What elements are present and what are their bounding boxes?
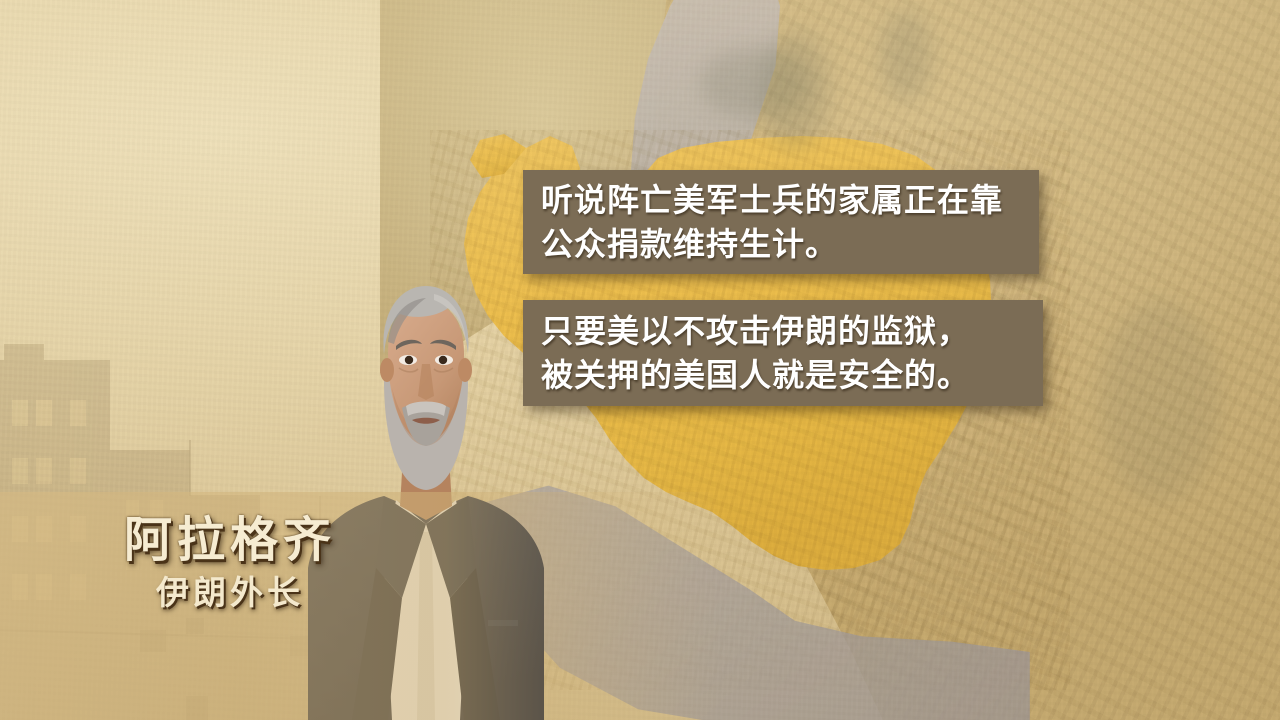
quote-2-line-2: 被关押的美国人就是安全的。 xyxy=(541,353,1043,397)
speaker-title: 伊朗外长 xyxy=(0,576,460,611)
speaker-name: 阿拉格齐 xyxy=(0,516,460,566)
quote-box-1: 听说阵亡美军士兵的家属正在靠 公众捐款维持生计。 xyxy=(523,170,1039,274)
news-graphic-stage: 阿拉格齐 伊朗外长 听说阵亡美军士兵的家属正在靠 公众捐款维持生计。 只要美以不… xyxy=(0,0,1280,720)
speaker-portrait xyxy=(292,268,560,720)
speaker-name-block: 阿拉格齐 伊朗外长 xyxy=(0,516,700,611)
quote-2-line-1: 只要美以不攻击伊朗的监狱， xyxy=(541,309,1043,353)
quote-box-2: 只要美以不攻击伊朗的监狱， 被关押的美国人就是安全的。 xyxy=(523,300,1043,406)
quote-1-line-1: 听说阵亡美军士兵的家属正在靠 xyxy=(541,178,1039,222)
quote-1-line-2: 公众捐款维持生计。 xyxy=(541,222,1039,266)
